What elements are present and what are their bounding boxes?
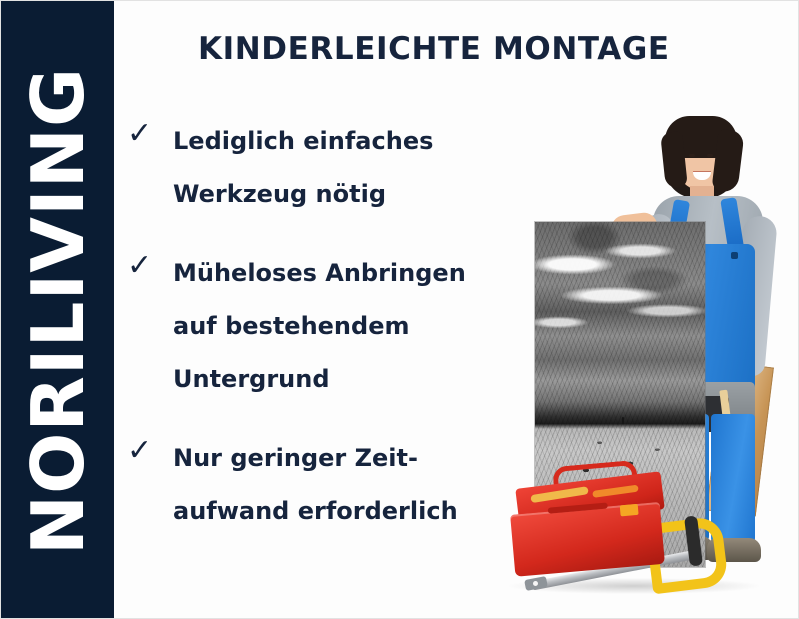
eye-right (707, 154, 713, 157)
toolbox (506, 457, 675, 586)
toolbox-body (510, 502, 665, 577)
toolbox-latch (620, 504, 639, 517)
list-item-text: Müheloses Anbringen auf bestehendem Unte… (173, 247, 527, 406)
brand-wordmark: NORILIVING (22, 66, 94, 554)
list-item-line: aufwand erforderlich (173, 485, 527, 538)
list-item-text: Nur geringer Zeit- aufwand erforderlich (173, 432, 527, 538)
feature-list: ✓ Lediglich einfaches Werkzeug nötig ✓ M… (127, 115, 527, 564)
list-item-line: Lediglich einfaches (173, 115, 527, 168)
brand-bar: NORILIVING (1, 1, 114, 619)
canvas-clouds (535, 222, 705, 415)
list-item: ✓ Nur geringer Zeit- aufwand erforderlic… (127, 432, 527, 538)
overall-clip (731, 252, 738, 259)
eye-left (689, 154, 695, 157)
list-item-line: Untergrund (173, 353, 527, 406)
check-icon: ✓ (127, 117, 173, 151)
canvas-distant-figure (622, 417, 624, 424)
promo-banner: NORILIVING KINDERLEICHTE MONTAGE ✓ Ledig… (0, 0, 799, 619)
check-icon: ✓ (127, 434, 173, 468)
list-item-line: Müheloses Anbringen (173, 247, 527, 300)
list-item-text: Lediglich einfaches Werkzeug nötig (173, 115, 527, 221)
list-item: ✓ Müheloses Anbringen auf bestehendem Un… (127, 247, 527, 406)
list-item: ✓ Lediglich einfaches Werkzeug nötig (127, 115, 527, 221)
check-icon: ✓ (127, 249, 173, 283)
list-item-line: auf bestehendem (173, 300, 527, 353)
list-item-line: Werkzeug nötig (173, 168, 527, 221)
page-title: KINDERLEICHTE MONTAGE (198, 31, 670, 67)
product-photo (501, 96, 799, 619)
list-item-line: Nur geringer Zeit- (173, 432, 527, 485)
